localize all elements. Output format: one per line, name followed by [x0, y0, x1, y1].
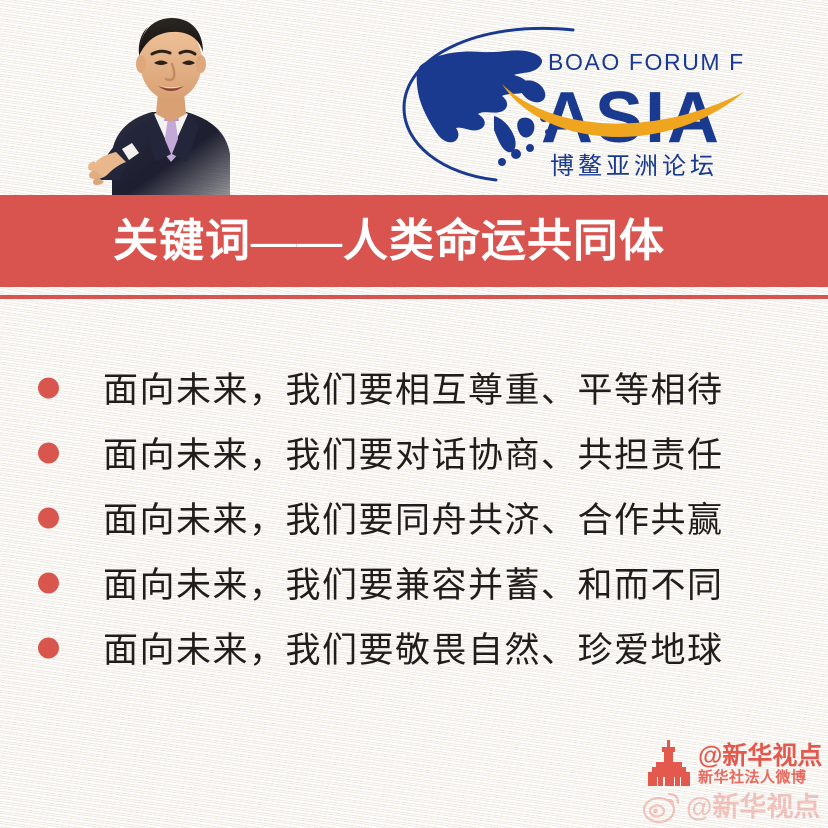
list-item: 面向未来，我们要兼容并蓄、和而不同 [0, 550, 828, 615]
bullet-dot-icon [38, 572, 59, 593]
bullet-dot-icon [38, 637, 59, 658]
watermark-ghost: @新华视点 [642, 790, 820, 824]
list-item-label: 面向未来，我们要对话协商、共担责任 [103, 427, 724, 478]
page-title: 关键词——人类命运共同体 [113, 219, 665, 264]
watermark-subtitle: 新华社法人微博 [698, 770, 807, 787]
logo-chinese-line: 博鳌亚洲论坛 [550, 153, 718, 180]
watermark-brand: @新华视点 新华社法人微博 [646, 740, 822, 786]
boao-forum-logo: BOAO FORUM FOR ASIA 博鳌亚洲论坛 [398, 22, 744, 184]
portrait-cutout [86, 2, 254, 196]
keyword-bullet-list: 面向未来，我们要相互尊重、平等相待 面向未来，我们要对话协商、共担责任 面向未来… [0, 355, 828, 680]
list-item-label: 面向未来，我们要相互尊重、平等相待 [103, 362, 724, 413]
watermark: @新华视点 新华社法人微博 @新华视点 [634, 734, 824, 826]
list-item: 面向未来，我们要敬畏自然、珍爱地球 [0, 615, 828, 680]
list-item-label: 面向未来，我们要敬畏自然、珍爱地球 [103, 622, 724, 673]
bullet-dot-icon [38, 377, 59, 398]
list-item: 面向未来，我们要对话协商、共担责任 [0, 420, 828, 485]
list-item-label: 面向未来，我们要兼容并蓄、和而不同 [103, 557, 724, 608]
weibo-eye-icon [642, 790, 682, 824]
title-banner: 关键词——人类命运共同体 [0, 195, 828, 287]
xinhua-tower-icon [646, 740, 694, 786]
watermark-handle: @新华视点 [698, 743, 822, 769]
poster-canvas: BOAO FORUM FOR ASIA 博鳌亚洲论坛 关键词——人类命运共同体 … [0, 0, 828, 828]
poster-header: BOAO FORUM FOR ASIA 博鳌亚洲论坛 [0, 0, 828, 196]
list-item: 面向未来，我们要相互尊重、平等相待 [0, 355, 828, 420]
bullet-dot-icon [38, 442, 59, 463]
banner-divider-rule [0, 295, 828, 299]
list-item-label: 面向未来，我们要同舟共济、合作共赢 [103, 492, 724, 543]
watermark-ghost-handle: @新华视点 [686, 794, 820, 821]
bullet-dot-icon [38, 507, 59, 528]
logo-english-line: BOAO FORUM FOR [548, 49, 744, 75]
list-item: 面向未来，我们要同舟共济、合作共赢 [0, 485, 828, 550]
